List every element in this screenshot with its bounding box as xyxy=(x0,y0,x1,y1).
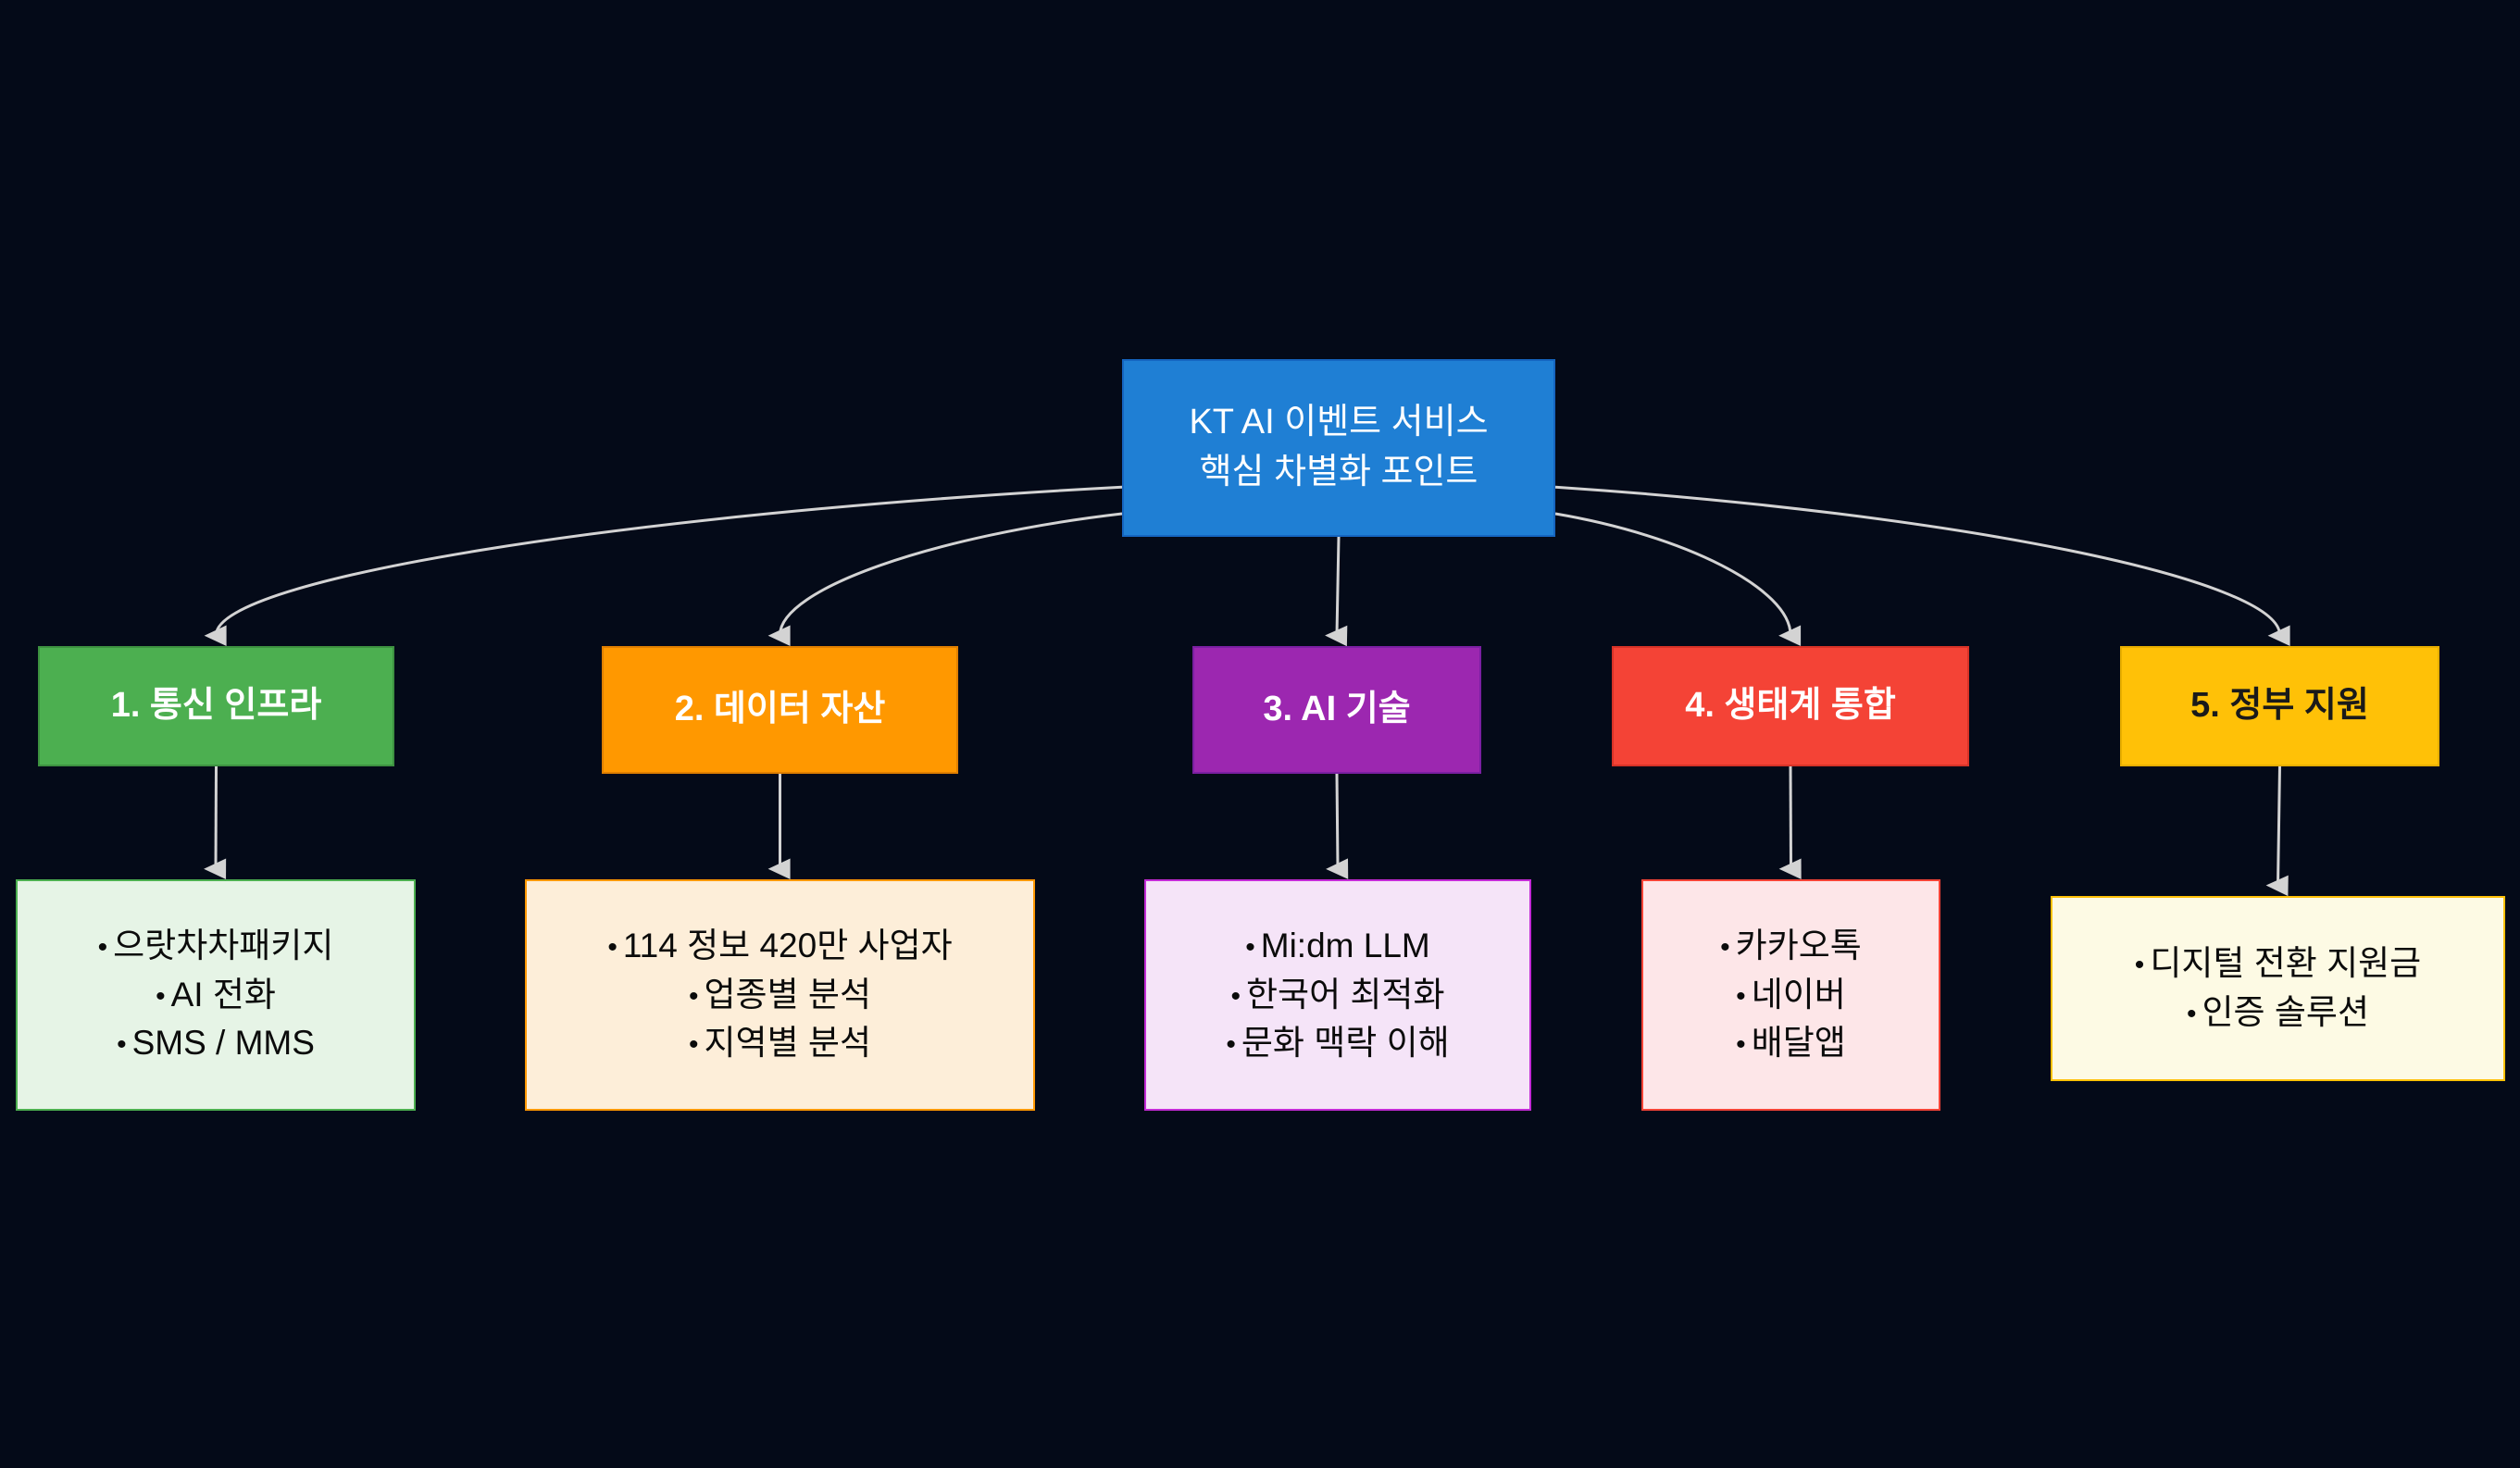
category-label-4: 4. 생태계 통합 xyxy=(1685,683,1896,728)
detail-list-item: •으랏차차패키지 xyxy=(31,922,401,971)
detail-node-5[interactable]: •디지털 전환 지원금•인증 솔루션 xyxy=(2051,896,2505,1081)
edge xyxy=(216,766,217,868)
edge xyxy=(780,514,1123,635)
detail-list-item: •카카오톡 xyxy=(1656,922,1926,971)
category-node-4[interactable]: 4. 생태계 통합 xyxy=(1612,646,1969,766)
edge xyxy=(2278,766,2280,885)
root-title-line2: 핵심 차별화 포인트 xyxy=(1189,448,1488,498)
bullet-icon: • xyxy=(2135,950,2145,980)
detail-list-item: •네이버 xyxy=(1656,971,1926,1020)
category-label-2: 2. 데이터 자산 xyxy=(675,687,886,732)
root-node[interactable]: KT AI 이벤트 서비스 핵심 차별화 포인트 xyxy=(1122,359,1555,537)
detail-list-item-label: 지역별 분석 xyxy=(705,1024,871,1062)
detail-list-item: •Mi:dm LLM xyxy=(1159,922,1516,971)
detail-node-1[interactable]: •으랏차차패키지•AI 전화•SMS / MMS xyxy=(16,879,416,1111)
detail-list-2: •114 정보 420만 사업자•업종별 분석•지역별 분석 xyxy=(540,922,1020,1068)
detail-node-4[interactable]: •카카오톡•네이버•배달앱 xyxy=(1641,879,1940,1111)
detail-list-item-label: 카카오톡 xyxy=(1736,927,1862,964)
detail-list-item-label: 한국어 최적화 xyxy=(1246,976,1445,1014)
category-node-5[interactable]: 5. 정부 지원 xyxy=(2120,646,2439,766)
category-label-3: 3. AI 기술 xyxy=(1263,687,1410,732)
detail-list-item: •업종별 분석 xyxy=(540,971,1020,1020)
bullet-icon: • xyxy=(2187,999,2197,1029)
detail-list-item-label: Mi:dm LLM xyxy=(1261,927,1430,964)
detail-node-3[interactable]: •Mi:dm LLM•한국어 최적화•문화 맥락 이해 xyxy=(1144,879,1531,1111)
category-label-1: 1. 통신 인프라 xyxy=(111,683,322,728)
edge xyxy=(217,487,1123,635)
detail-list-item-label: 네이버 xyxy=(1752,976,1846,1014)
detail-list-item: •배달앱 xyxy=(1656,1019,1926,1068)
detail-list-item-label: 문화 맥락 이해 xyxy=(1241,1024,1450,1062)
bullet-icon: • xyxy=(117,1029,127,1060)
detail-list-item-label: SMS / MMS xyxy=(132,1024,315,1062)
bullet-icon: • xyxy=(156,981,166,1012)
edge xyxy=(1337,774,1338,868)
edge xyxy=(1555,487,2280,635)
detail-list-item: •디지털 전환 지원금 xyxy=(2065,939,2490,989)
detail-list-4: •카카오톡•네이버•배달앱 xyxy=(1656,922,1926,1068)
detail-list-item: •SMS / MMS xyxy=(31,1019,401,1068)
detail-list-item: •114 정보 420만 사업자 xyxy=(540,922,1020,971)
bullet-icon: • xyxy=(689,981,699,1012)
detail-list-item: •인증 솔루션 xyxy=(2065,989,2490,1038)
bullet-icon: • xyxy=(1230,981,1241,1012)
bullet-icon: • xyxy=(689,1029,699,1060)
detail-list-3: •Mi:dm LLM•한국어 최적화•문화 맥락 이해 xyxy=(1159,922,1516,1068)
detail-list-item: •한국어 최적화 xyxy=(1159,971,1516,1020)
bullet-icon: • xyxy=(98,932,108,963)
category-node-3[interactable]: 3. AI 기술 xyxy=(1192,646,1481,774)
category-node-1[interactable]: 1. 통신 인프라 xyxy=(38,646,394,766)
detail-list-item-label: 114 정보 420만 사업자 xyxy=(623,927,953,964)
bullet-icon: • xyxy=(1226,1029,1236,1060)
detail-list-item-label: 업종별 분석 xyxy=(705,976,871,1014)
bullet-icon: • xyxy=(1720,932,1730,963)
detail-list-item-label: 으랏차차패키지 xyxy=(113,927,333,964)
root-title-line1: KT AI 이벤트 서비스 xyxy=(1189,398,1488,448)
detail-list-item-label: AI 전화 xyxy=(171,976,276,1014)
edge xyxy=(1790,766,1791,868)
bullet-icon: • xyxy=(1736,1029,1746,1060)
category-label-5: 5. 정부 지원 xyxy=(2190,683,2369,728)
detail-list-item-label: 인증 솔루션 xyxy=(2202,993,2369,1031)
bullet-icon: • xyxy=(607,932,618,963)
edge xyxy=(1337,537,1339,635)
detail-list-item: •문화 맥락 이해 xyxy=(1159,1019,1516,1068)
detail-list-item-label: 디지털 전환 지원금 xyxy=(2150,944,2421,982)
detail-list-5: •디지털 전환 지원금•인증 솔루션 xyxy=(2065,939,2490,1037)
bullet-icon: • xyxy=(1736,981,1746,1012)
detail-list-item-label: 배달앱 xyxy=(1752,1024,1846,1062)
diagram-canvas: KT AI 이벤트 서비스 핵심 차별화 포인트 1. 통신 인프라 •으랏차차… xyxy=(0,0,2520,1468)
detail-node-2[interactable]: •114 정보 420만 사업자•업종별 분석•지역별 분석 xyxy=(525,879,1035,1111)
detail-list-item: •AI 전화 xyxy=(31,971,401,1020)
detail-list-1: •으랏차차패키지•AI 전화•SMS / MMS xyxy=(31,922,401,1068)
detail-list-item: •지역별 분석 xyxy=(540,1019,1020,1068)
bullet-icon: • xyxy=(1245,932,1255,963)
edge xyxy=(1555,514,1790,635)
category-node-2[interactable]: 2. 데이터 자산 xyxy=(602,646,958,774)
